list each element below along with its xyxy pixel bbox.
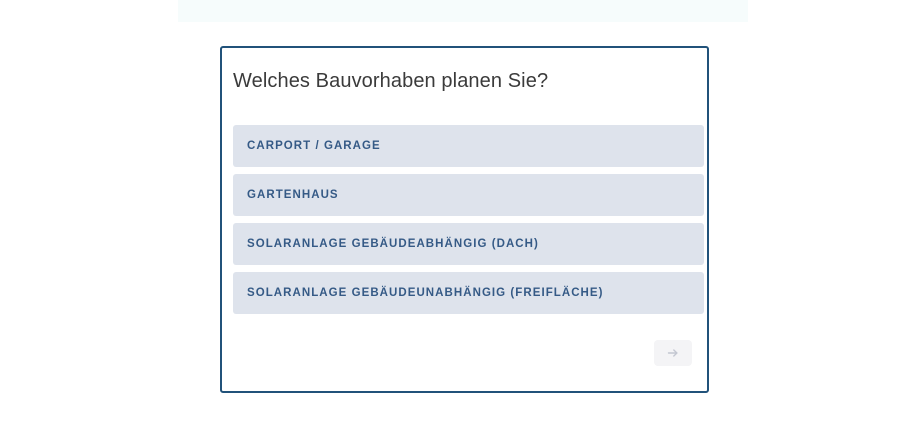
- option-gartenhaus[interactable]: Gartenhaus: [233, 174, 704, 216]
- option-label: Solaranlage gebäudeabhängig (Dach): [247, 238, 539, 250]
- page-title: Welches Bauvorhaben planen Sie?: [233, 68, 548, 94]
- top-banner-strip: [178, 0, 748, 22]
- option-carport-garage[interactable]: Carport / Garage: [233, 125, 704, 167]
- option-label: Gartenhaus: [247, 189, 339, 201]
- question-card-content: Welches Bauvorhaben planen Sie? Carport …: [222, 48, 707, 391]
- option-label: Solaranlage gebäudeunabhängig (Freifläch…: [247, 287, 604, 299]
- next-button[interactable]: [654, 340, 692, 366]
- option-solaranlage-gebaeudeabhaengig[interactable]: Solaranlage gebäudeabhängig (Dach): [233, 223, 704, 265]
- question-card: Welches Bauvorhaben planen Sie? Carport …: [220, 46, 709, 393]
- option-solaranlage-gebaeudeunabhaengig[interactable]: Solaranlage gebäudeunabhängig (Freifläch…: [233, 272, 704, 314]
- arrow-right-icon: [666, 346, 680, 360]
- card-footer: [233, 340, 696, 380]
- option-label: Carport / Garage: [247, 140, 381, 152]
- option-list: Carport / Garage Gartenhaus Solaranlage …: [233, 125, 704, 321]
